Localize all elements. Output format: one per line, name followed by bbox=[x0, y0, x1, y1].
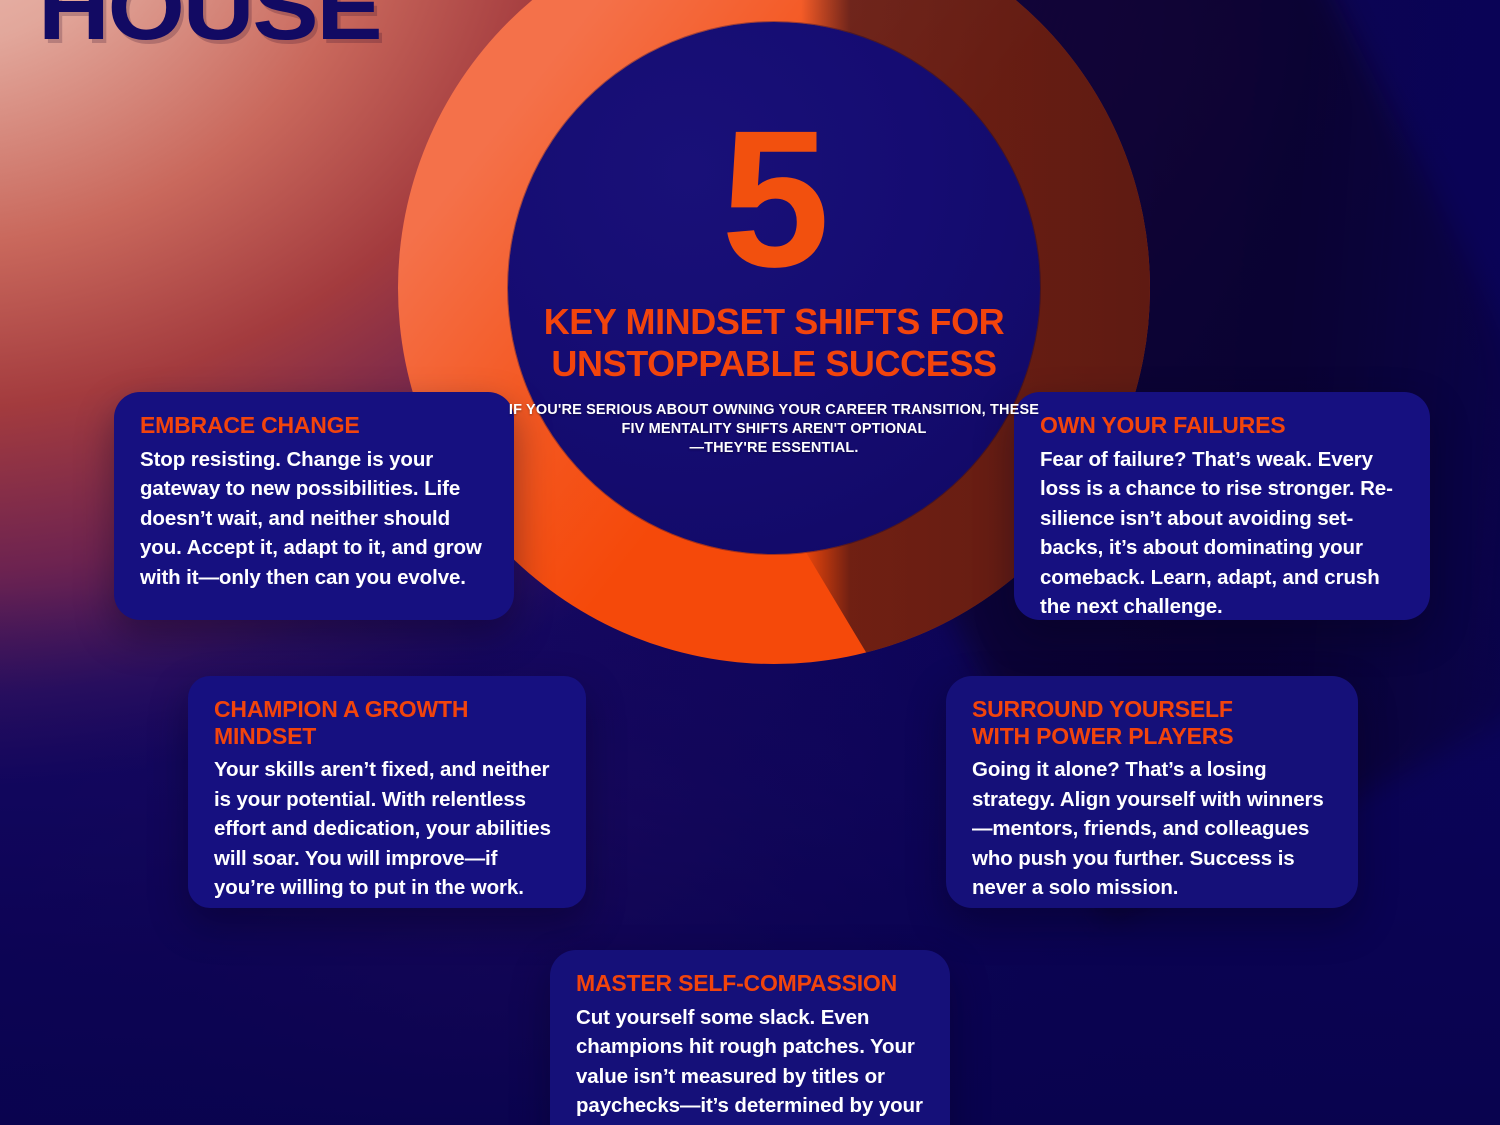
card-title: OWN YOUR FAILURES bbox=[1040, 412, 1404, 439]
infographic-poster: 5 KEY MINDSET SHIFTS FOR UNSTOPPABLE SUC… bbox=[0, 0, 1500, 1125]
card-title: SURROUND YOURSELFWITH POWER PLAYERS bbox=[972, 696, 1332, 749]
center-content-block: 5 KEY MINDSET SHIFTS FOR UNSTOPPABLE SUC… bbox=[508, 22, 1040, 458]
card-body: Fear of failure? That’s weak. Every loss… bbox=[1040, 445, 1404, 622]
card-title: MASTER SELF-COMPASSION bbox=[576, 970, 924, 997]
count-number: 5 bbox=[508, 104, 1040, 295]
card-body: Going it alone? That’s a losing strategy… bbox=[972, 755, 1332, 903]
card-title: EMBRACE CHANGE bbox=[140, 412, 488, 439]
card-surround-yourself-with-power-players: SURROUND YOURSELFWITH POWER PLAYERS Goin… bbox=[946, 676, 1358, 908]
brand-wordmark: HOUSE bbox=[38, 0, 381, 61]
card-body: Cut yourself some slack. Even champions … bbox=[576, 1003, 924, 1125]
card-embrace-change: EMBRACE CHANGE Stop resisting. Change is… bbox=[114, 392, 514, 620]
card-champion-a-growth-mindset: CHAMPION A GROWTH MINDSET Your skills ar… bbox=[188, 676, 586, 908]
page-subtitle: IF YOU'RE SERIOUS ABOUT OWNING YOUR CARE… bbox=[508, 401, 1040, 458]
card-body: Stop resisting. Change is your gateway t… bbox=[140, 445, 488, 593]
card-own-your-failures: OWN YOUR FAILURES Fear of failure? That’… bbox=[1014, 392, 1430, 620]
page-title: KEY MINDSET SHIFTS FOR UNSTOPPABLE SUCCE… bbox=[508, 301, 1040, 385]
card-title: CHAMPION A GROWTH MINDSET bbox=[214, 696, 560, 749]
card-body: Your skills aren’t fixed, and neither is… bbox=[214, 755, 560, 903]
card-master-self-compassion: MASTER SELF-COMPASSION Cut yourself some… bbox=[550, 950, 950, 1125]
